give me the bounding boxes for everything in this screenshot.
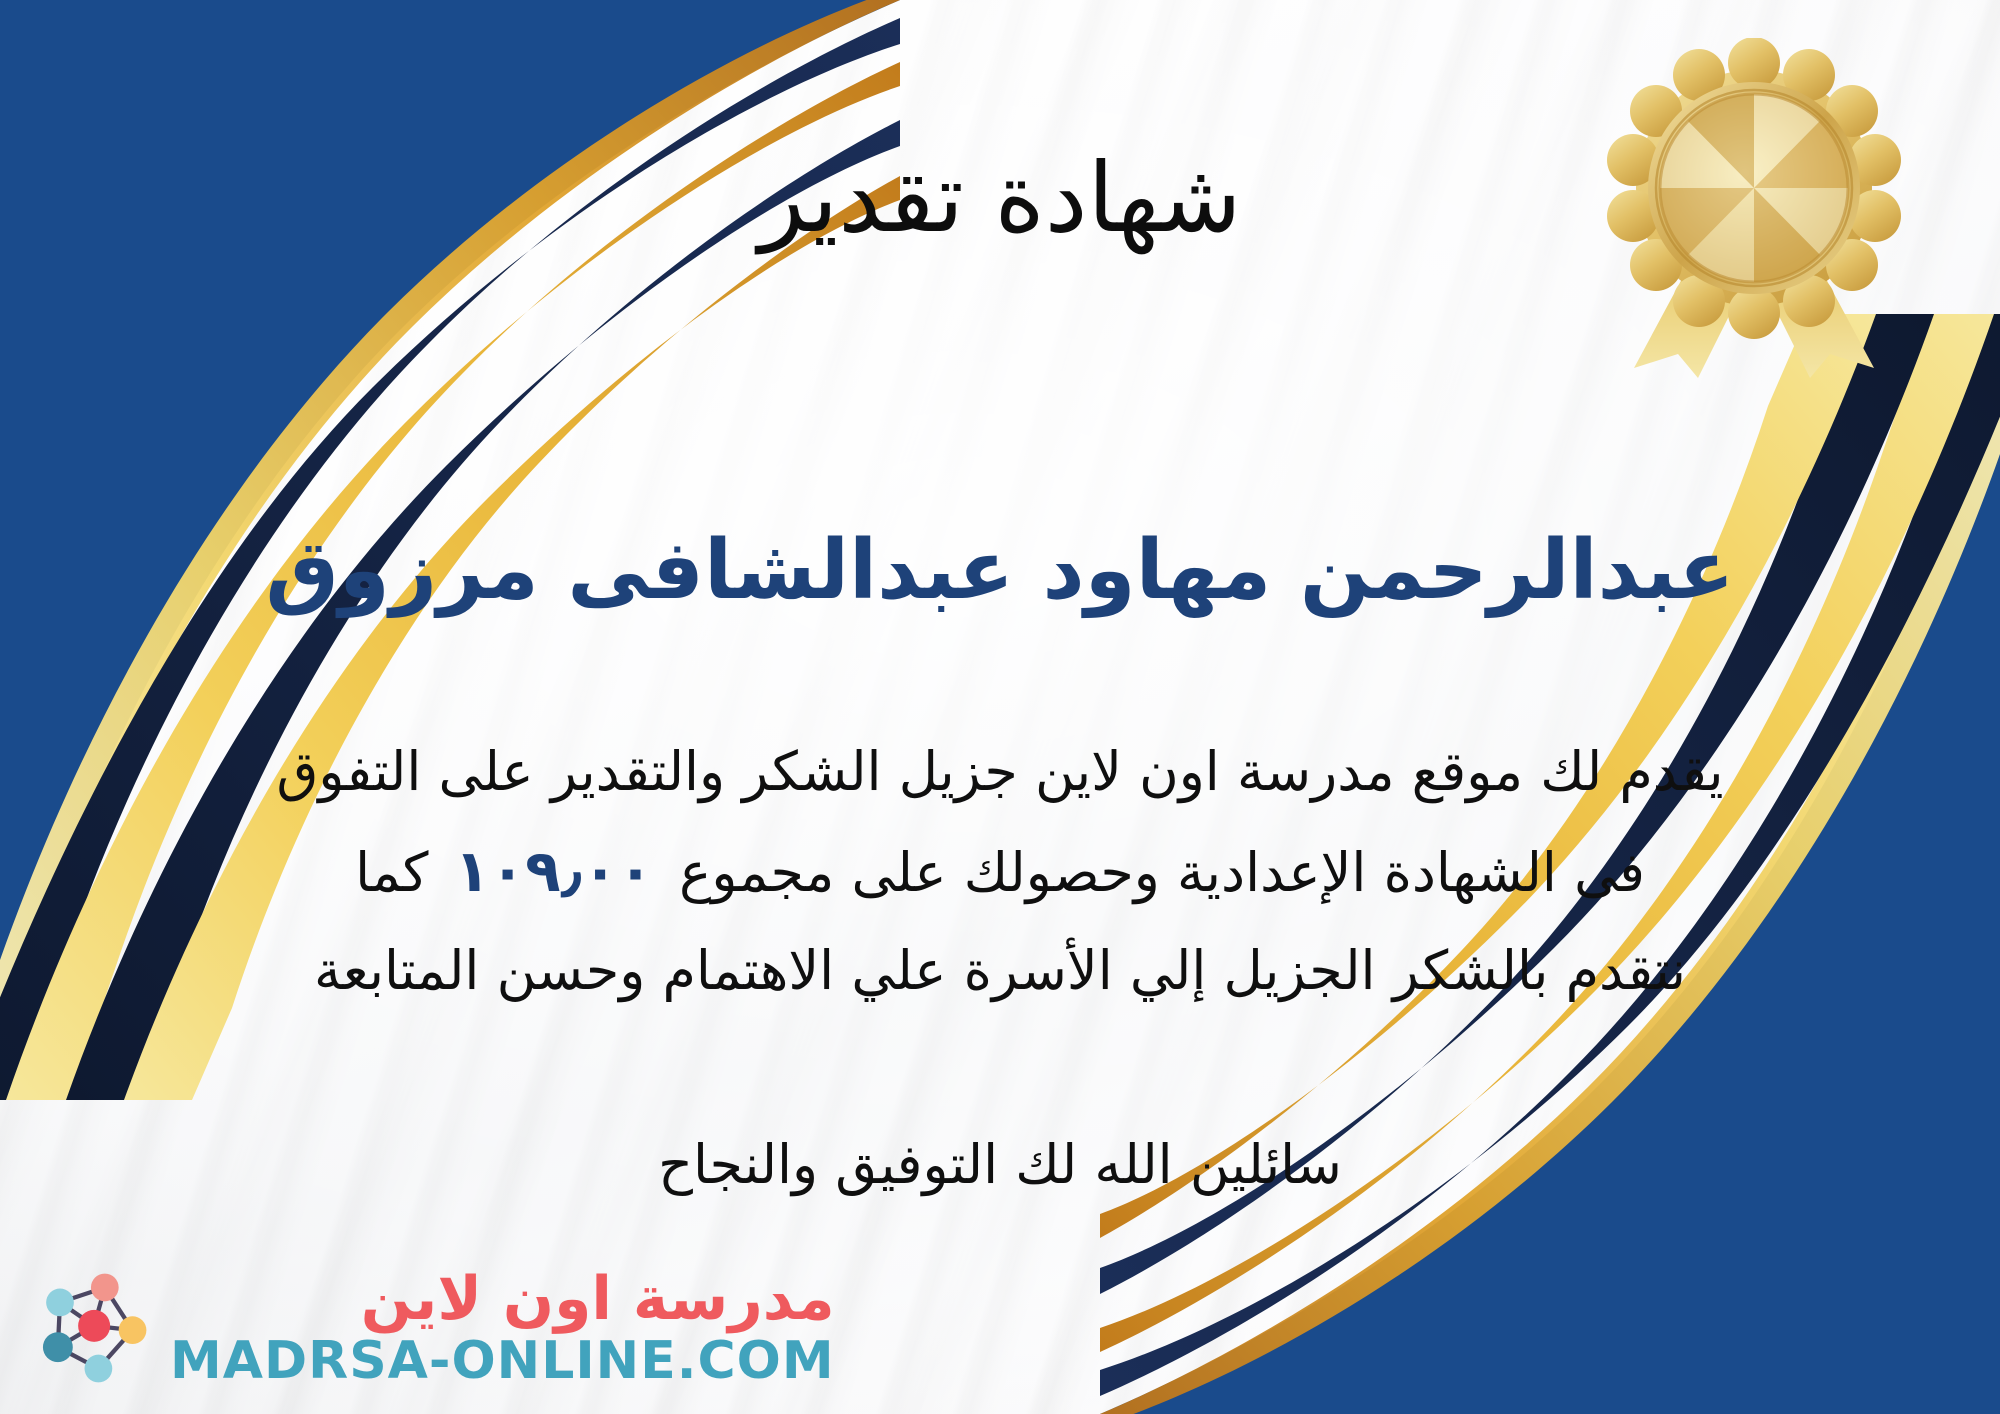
grade-total-value: ١٠٩٫٠٠ — [429, 820, 680, 923]
node-red — [78, 1310, 110, 1342]
body-line-2-suffix: كما — [355, 825, 428, 921]
body-line-2-prefix: فى الشهادة الإعدادية وحصولك على مجموع — [679, 825, 1645, 921]
certificate-content: شهادة تقدير عبدالرحمن مهاود عبدالشافى مر… — [0, 0, 2000, 1414]
brand-arabic-name: مدرسة اون لاين — [361, 1269, 835, 1329]
certificate-page: شهادة تقدير عبدالرحمن مهاود عبدالشافى مر… — [0, 0, 2000, 1414]
certificate-title: شهادة تقدير — [0, 138, 2000, 258]
certificate-body: يقدم لك موقع مدرسة اون لاين جزيل الشكر و… — [55, 724, 1945, 1019]
network-nodes-icon — [28, 1264, 156, 1392]
body-line-2: فى الشهادة الإعدادية وحصولك على مجموع ١٠… — [55, 820, 1945, 923]
node-light-blue — [46, 1289, 74, 1317]
brand-website[interactable]: MADRSA-ONLINE.COM — [170, 1335, 835, 1387]
node-salmon — [91, 1274, 119, 1302]
node-light-blue-2 — [85, 1355, 113, 1383]
node-yellow — [119, 1316, 147, 1344]
recipient-name: عبدالرحمن مهاود عبدالشافى مرزوق — [0, 518, 2000, 625]
brand-logo[interactable]: مدرسة اون لاين MADRSA-ONLINE.COM — [28, 1264, 835, 1392]
body-line-1: يقدم لك موقع مدرسة اون لاين جزيل الشكر و… — [55, 724, 1945, 820]
body-line-3: نتقدم بالشكر الجزيل إلي الأسرة علي الاهت… — [55, 923, 1945, 1019]
brand-text: مدرسة اون لاين MADRSA-ONLINE.COM — [170, 1269, 835, 1387]
closing-line: سائلين الله لك التوفيق والنجاح — [0, 1124, 2000, 1205]
node-teal — [43, 1332, 73, 1362]
